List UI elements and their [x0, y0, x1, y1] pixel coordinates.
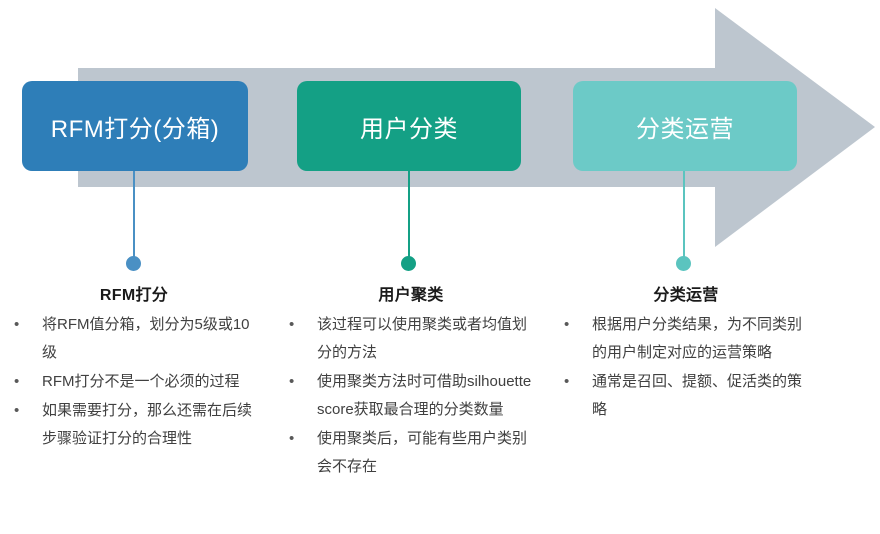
connector-dot-3: [676, 256, 691, 271]
bullet-item: •该过程可以使用聚类或者均值划分的方法: [275, 311, 551, 367]
bullet-text: 如果需要打分，那么还需在后续步骤验证打分的合理性: [42, 402, 252, 447]
detail-column-1: RFM打分 •将RFM值分箱，划分为5级或10级•RFM打分不是一个必须的过程•…: [0, 281, 276, 454]
connector-line-3: [683, 171, 685, 263]
detail-heading-2: 用户聚类: [275, 281, 551, 305]
bullet-text: 使用聚类方法时可借助silhouette score获取最合理的分类数量: [317, 373, 531, 418]
bullet-item: •通常是召回、提额、促活类的策略: [550, 368, 826, 424]
bullet-marker-icon: •: [14, 397, 19, 425]
detail-bullet-list-1: •将RFM值分箱，划分为5级或10级•RFM打分不是一个必须的过程•如果需要打分…: [0, 311, 276, 453]
detail-heading-1: RFM打分: [0, 281, 276, 305]
process-step-box-2[interactable]: 用户分类: [297, 81, 521, 171]
connector-dot-1: [126, 256, 141, 271]
bullet-text: 根据用户分类结果，为不同类别的用户制定对应的运营策略: [592, 316, 802, 361]
detail-column-3: 分类运营 •根据用户分类结果，为不同类别的用户制定对应的运营策略•通常是召回、提…: [550, 281, 826, 425]
bullet-text: 通常是召回、提额、促活类的策略: [592, 373, 802, 418]
diagram-canvas: RFM打分(分箱) 用户分类 分类运营 RFM打分 •将RFM值分箱，划分为5级…: [0, 0, 880, 534]
bullet-item: •根据用户分类结果，为不同类别的用户制定对应的运营策略: [550, 311, 826, 367]
bullet-item: •RFM打分不是一个必须的过程: [0, 368, 276, 396]
connector-line-1: [133, 171, 135, 263]
bullet-item: •将RFM值分箱，划分为5级或10级: [0, 311, 276, 367]
detail-column-2: 用户聚类 •该过程可以使用聚类或者均值划分的方法•使用聚类方法时可借助silho…: [275, 281, 551, 482]
detail-heading-3: 分类运营: [550, 281, 826, 305]
bullet-marker-icon: •: [564, 368, 569, 396]
bullet-text: RFM打分不是一个必须的过程: [42, 373, 240, 390]
bullet-marker-icon: •: [289, 368, 294, 396]
process-step-box-1[interactable]: RFM打分(分箱): [22, 81, 248, 171]
bullet-text: 将RFM值分箱，划分为5级或10级: [42, 316, 250, 361]
process-step-box-3[interactable]: 分类运营: [573, 81, 797, 171]
bullet-marker-icon: •: [289, 425, 294, 453]
bullet-text: 使用聚类后，可能有些用户类别会不存在: [317, 430, 527, 475]
bullet-marker-icon: •: [14, 368, 19, 396]
connector-line-2: [408, 171, 410, 263]
bullet-item: •使用聚类后，可能有些用户类别会不存在: [275, 425, 551, 481]
bullet-text: 该过程可以使用聚类或者均值划分的方法: [317, 316, 527, 361]
bullet-item: •如果需要打分，那么还需在后续步骤验证打分的合理性: [0, 397, 276, 453]
bullet-item: •使用聚类方法时可借助silhouette score获取最合理的分类数量: [275, 368, 551, 424]
detail-bullet-list-2: •该过程可以使用聚类或者均值划分的方法•使用聚类方法时可借助silhouette…: [275, 311, 551, 481]
connector-dot-2: [401, 256, 416, 271]
detail-bullet-list-3: •根据用户分类结果，为不同类别的用户制定对应的运营策略•通常是召回、提额、促活类…: [550, 311, 826, 424]
bullet-marker-icon: •: [289, 311, 294, 339]
bullet-marker-icon: •: [14, 311, 19, 339]
bullet-marker-icon: •: [564, 311, 569, 339]
